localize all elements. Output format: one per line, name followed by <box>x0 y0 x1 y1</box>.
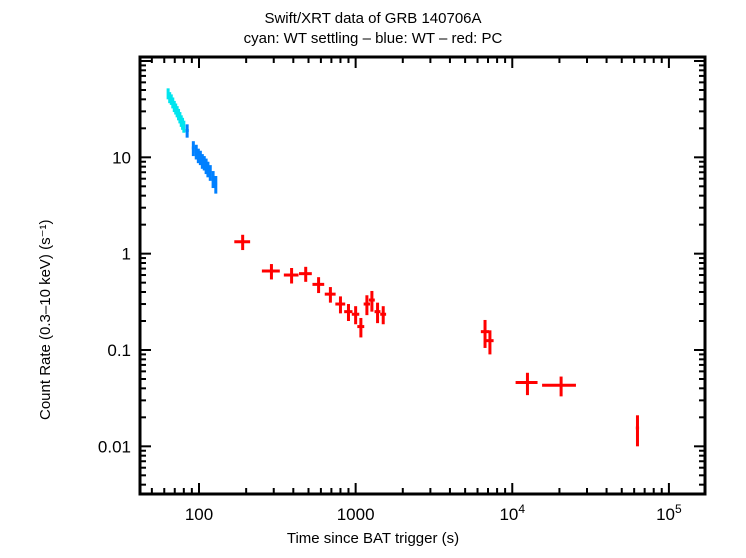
svg-text:0.01: 0.01 <box>98 437 131 456</box>
svg-text:0.1: 0.1 <box>107 341 131 360</box>
series-pc <box>234 235 639 447</box>
data-point <box>636 415 639 446</box>
data-point <box>481 320 489 348</box>
data-point <box>284 268 299 284</box>
svg-text:104: 104 <box>499 502 525 524</box>
data-point <box>357 318 364 337</box>
series-wt-settling <box>167 88 185 132</box>
svg-text:100: 100 <box>185 505 213 524</box>
plot-page: Swift/XRT data of GRB 140706A cyan: WT s… <box>0 0 746 558</box>
data-point <box>192 141 195 156</box>
data-point <box>335 296 345 313</box>
data-point <box>364 295 370 315</box>
data-point <box>380 306 386 324</box>
data-points <box>167 88 639 446</box>
data-point <box>186 124 189 137</box>
data-point <box>183 121 185 133</box>
axis-ticks <box>140 57 705 494</box>
svg-text:10: 10 <box>112 148 131 167</box>
data-point <box>207 162 209 178</box>
data-point <box>369 291 375 312</box>
data-point <box>325 287 336 303</box>
data-point <box>212 171 214 188</box>
svg-text:1: 1 <box>122 245 131 264</box>
svg-text:1000: 1000 <box>337 505 375 524</box>
data-point <box>344 304 352 321</box>
data-point <box>209 165 211 181</box>
axis-tick-labels: 10010001041051010.10.01 <box>98 148 682 524</box>
data-point <box>215 176 218 194</box>
data-point <box>312 277 324 293</box>
data-point <box>234 235 250 250</box>
data-point <box>375 303 381 323</box>
data-point <box>262 264 280 279</box>
data-point <box>352 306 359 324</box>
data-point <box>299 267 312 282</box>
chart-canvas: 10010001041051010.10.01 <box>0 0 746 558</box>
axis-frame <box>140 57 705 494</box>
data-point <box>486 330 494 354</box>
data-point <box>542 377 576 397</box>
series-wt <box>186 124 218 193</box>
svg-text:105: 105 <box>656 502 682 524</box>
data-point <box>516 373 538 395</box>
